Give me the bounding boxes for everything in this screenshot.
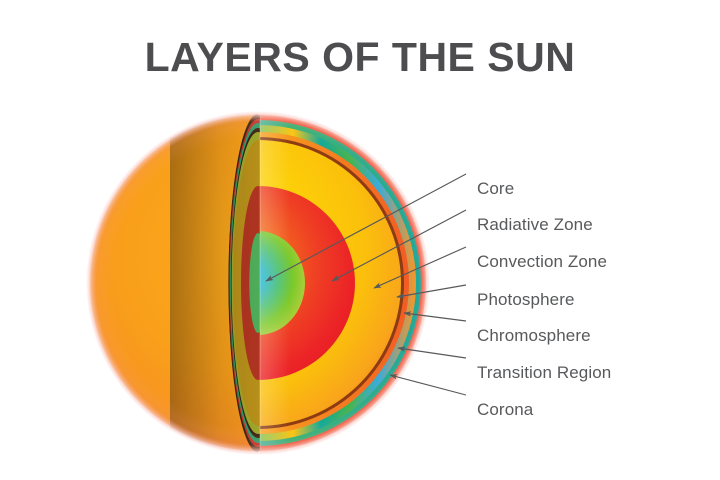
sun-cutaway-diagram: [0, 0, 720, 480]
label-core: Core: [477, 179, 514, 199]
cut-plane-sheen: [260, 115, 290, 451]
label-photosphere: Photosphere: [477, 290, 575, 310]
label-transition-region: Transition Region: [477, 363, 611, 383]
label-corona: Corona: [477, 400, 533, 420]
leader-line-corona: [390, 375, 466, 395]
label-convection-zone: Convection Zone: [477, 252, 607, 272]
sun-body: [86, 110, 430, 458]
label-chromosphere: Chromosphere: [477, 326, 591, 346]
label-radiative-zone: Radiative Zone: [477, 215, 593, 235]
sun-layers-infographic: LAYERS OF THE SUN: [0, 0, 720, 480]
